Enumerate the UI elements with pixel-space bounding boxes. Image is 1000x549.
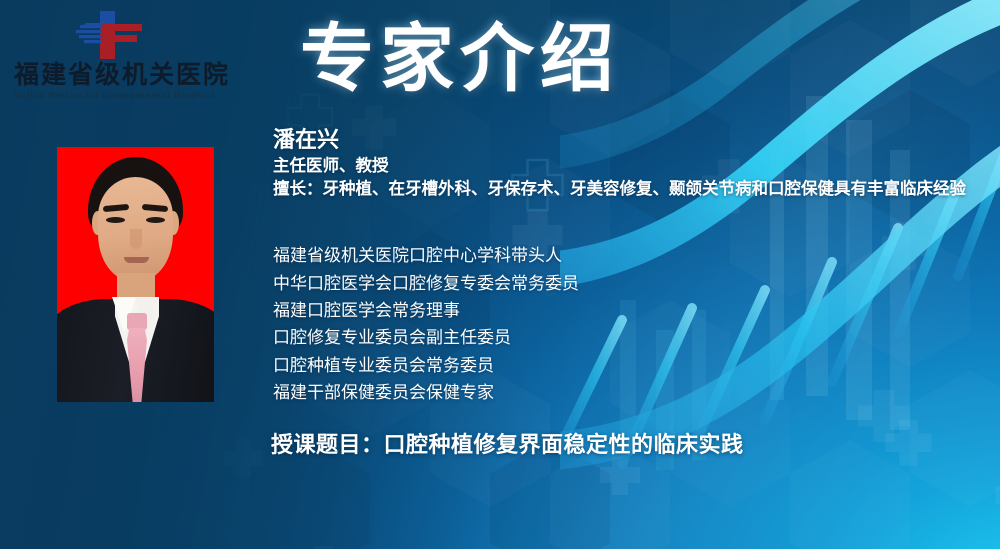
hospital-logo-mark	[70, 10, 148, 60]
expert-rank: 主任医师、教授	[273, 155, 988, 177]
expert-portrait-photo	[57, 147, 214, 402]
expert-credentials-list: 福建省级机关医院口腔中心学科带头人 中华口腔医学会口腔修复专委会常务委员 福建口…	[273, 243, 773, 407]
expert-info-block: 潘在兴 主任医师、教授 擅长：牙种植、在牙槽外科、牙保存术、牙美容修复、颞颌关节…	[273, 128, 988, 201]
portrait-mouth	[124, 257, 149, 263]
portrait-eye-left	[106, 217, 125, 223]
hospital-name-en: Fujian Provincial Governmental Hospital	[14, 90, 214, 100]
hospital-logo: 福建省级机关医院 Fujian Provincial Governmental …	[8, 6, 218, 106]
credential-item: 口腔修复专业委员会副主任委员	[273, 325, 773, 352]
credential-item: 福建口腔医学会常务理事	[273, 298, 773, 325]
expert-specialty: 擅长：牙种植、在牙槽外科、牙保存术、牙美容修复、颞颌关节病和口腔保健具有丰富临床…	[273, 178, 985, 201]
portrait-nose	[130, 229, 142, 249]
portrait-eye-right	[146, 217, 165, 223]
credential-item: 福建干部保健委员会保健专家	[273, 380, 773, 407]
credential-item: 福建省级机关医院口腔中心学科带头人	[273, 243, 773, 270]
portrait-tie-knot	[127, 313, 147, 330]
page-title: 专家介绍	[300, 16, 620, 103]
lecture-topic: 授课题目：口腔种植修复界面稳定性的临床实践	[271, 427, 744, 459]
hospital-name-cn: 福建省级机关医院	[14, 62, 214, 87]
expert-name: 潘在兴	[273, 128, 988, 155]
credential-item: 口腔种植专业委员会常务委员	[273, 353, 773, 380]
credential-item: 中华口腔医学会口腔修复专委会常务委员	[273, 270, 773, 297]
expert-introduction-slide: 福建省级机关医院 Fujian Provincial Governmental …	[0, 0, 1000, 549]
